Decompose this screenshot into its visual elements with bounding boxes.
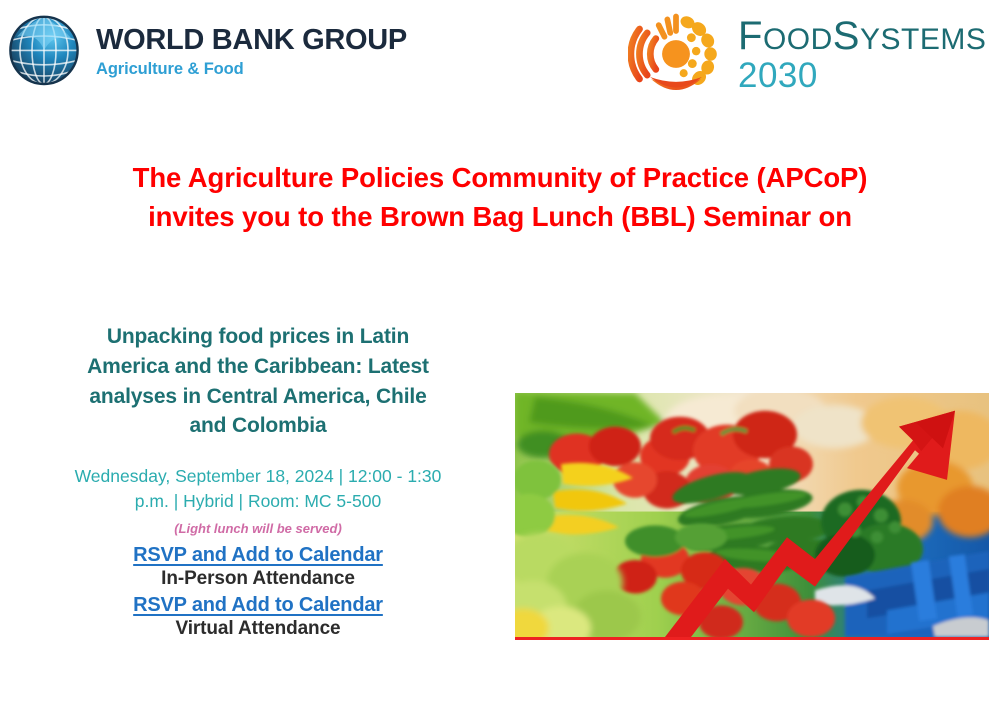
seminar-title-line-3: analyses in Central America, Chile xyxy=(22,382,494,412)
event-details-line-1: Wednesday, September 18, 2024 | 12:00 - … xyxy=(22,464,494,489)
globe-icon xyxy=(4,8,84,92)
seminar-title: Unpacking food prices in Latin America a… xyxy=(8,322,508,441)
fs-letter-f: F xyxy=(738,14,763,58)
headline-line-1: The Agriculture Policies Community of Pr… xyxy=(26,158,974,197)
world-bank-subtitle: Agriculture & Food xyxy=(96,61,407,78)
rsvp-link-virtual[interactable]: RSVP and Add to Calendar xyxy=(133,594,383,617)
rsvp-link-in-person[interactable]: RSVP and Add to Calendar xyxy=(133,544,383,567)
seminar-title-line-4: and Colombia xyxy=(22,411,494,441)
seminar-title-line-2: America and the Caribbean: Latest xyxy=(22,352,494,382)
seminar-title-line-1: Unpacking food prices in Latin xyxy=(22,322,494,352)
fs-letter-s: S xyxy=(833,14,860,58)
world-bank-title: WORLD BANK GROUP xyxy=(96,26,407,55)
market-produce-photo xyxy=(515,393,989,640)
sunburst-icon xyxy=(628,6,724,102)
event-details: Wednesday, September 18, 2024 | 12:00 - … xyxy=(8,464,508,514)
headline-line-2: invites you to the Brown Bag Lunch (BBL)… xyxy=(26,197,974,236)
event-details-line-2: p.m. | Hybrid | Room: MC 5-500 xyxy=(22,489,494,514)
food-systems-2030-logo: FOODSYSTEMS 2030 xyxy=(628,6,986,102)
invitation-headline: The Agriculture Policies Community of Pr… xyxy=(0,158,1000,236)
lunch-note: (Light lunch will be served) xyxy=(8,521,508,536)
in-person-attendance-label: In-Person Attendance xyxy=(8,568,508,590)
virtual-attendance-label: Virtual Attendance xyxy=(8,618,508,640)
header-logo-bar: WORLD BANK GROUP Agriculture & Food xyxy=(0,0,1000,112)
fs-letters-ystems: YSTEMS xyxy=(860,23,986,56)
food-systems-year: 2030 xyxy=(738,58,986,93)
world-bank-group-logo: WORLD BANK GROUP Agriculture & Food xyxy=(4,8,407,92)
rsvp-block: RSVP and Add to Calendar In-Person Atten… xyxy=(8,544,508,640)
produce-photo-illustration xyxy=(515,393,989,637)
event-info-column: Unpacking food prices in Latin America a… xyxy=(8,322,508,644)
food-systems-name: FOODSYSTEMS xyxy=(738,16,986,56)
fs-letters-ood: OOD xyxy=(763,23,833,56)
